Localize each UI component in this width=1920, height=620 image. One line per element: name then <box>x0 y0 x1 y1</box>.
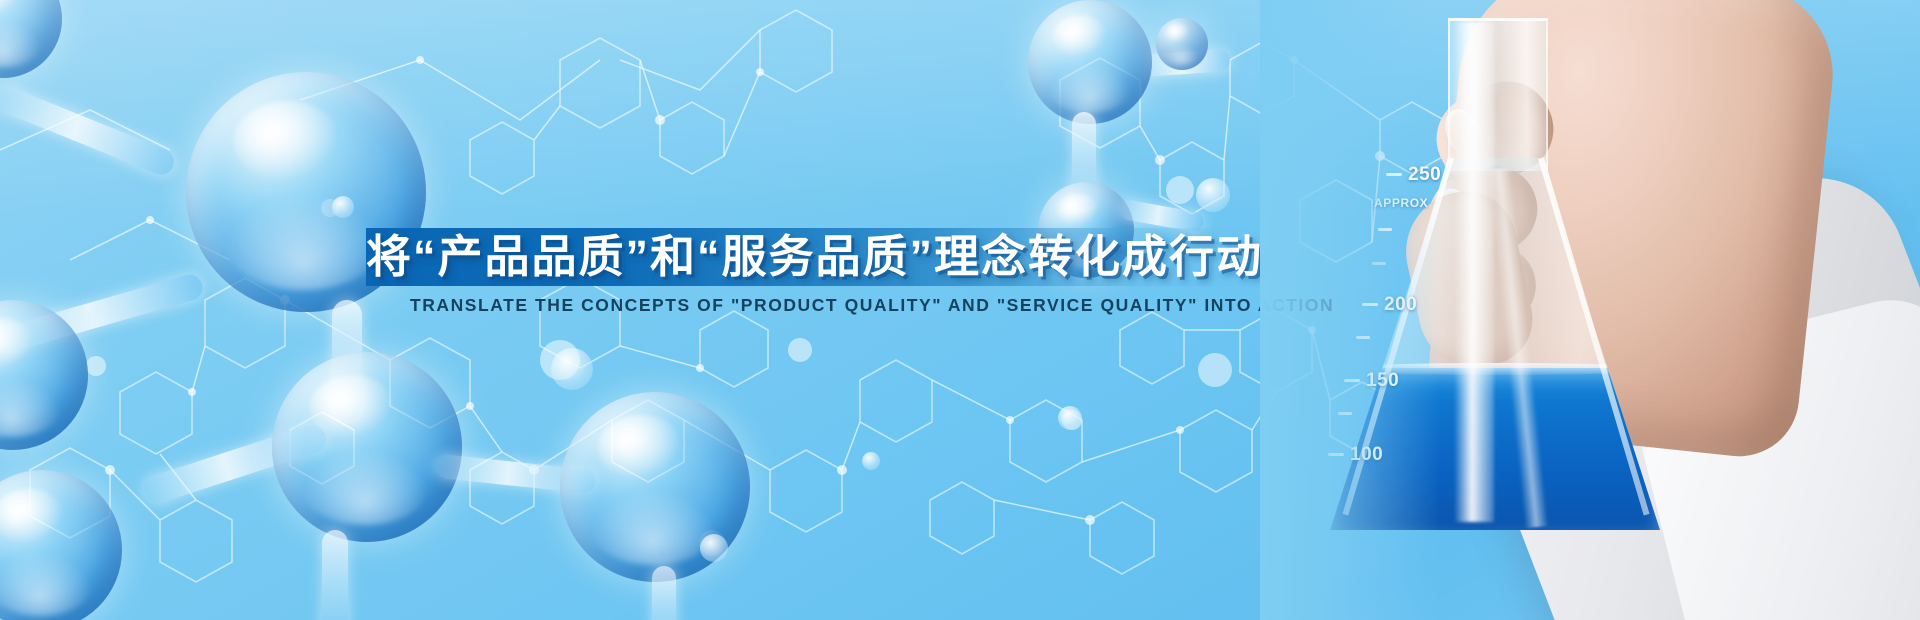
photo-edge-blend <box>1260 0 1440 620</box>
page-title: 将“产品品质”和“服务品质”理念转化成行动 <box>366 224 1366 290</box>
hand-holding-flask-photo: 250 APPROX 200 150 100 <box>1260 0 1920 620</box>
hero-banner: 将“产品品质”和“服务品质”理念转化成行动 TRANSLATE THE CONC… <box>0 0 1920 620</box>
flask-specular-highlight <box>1454 22 1494 522</box>
page-subtitle: TRANSLATE THE CONCEPTS OF "PRODUCT QUALI… <box>410 295 1334 316</box>
